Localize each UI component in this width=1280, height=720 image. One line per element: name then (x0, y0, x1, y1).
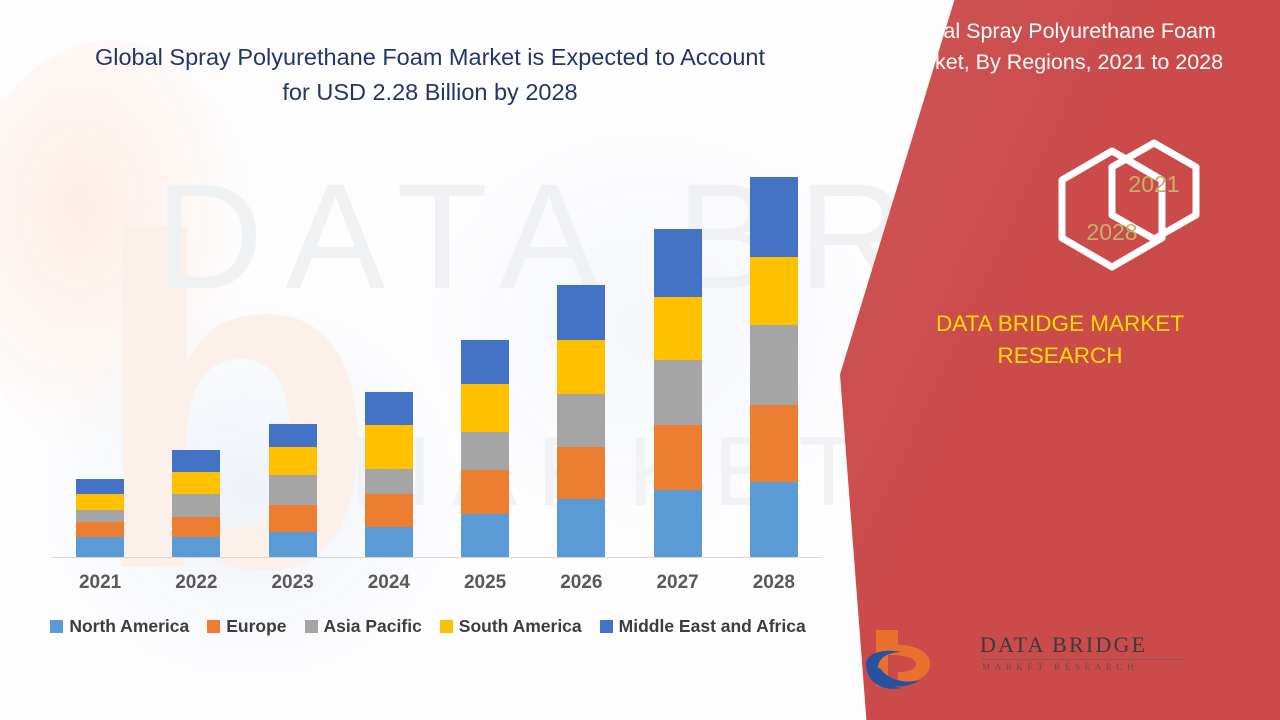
x-axis-labels: 20212022202320242025202620272028 (52, 572, 822, 594)
bar-segment[interactable] (750, 405, 798, 482)
bar-segment[interactable] (557, 285, 605, 340)
bar-segment[interactable] (269, 505, 317, 532)
bar-segment[interactable] (269, 475, 317, 505)
bar-segment[interactable] (654, 425, 702, 490)
chart-title: Global Spray Polyurethane Foam Market is… (60, 40, 800, 110)
logo-mark-icon (858, 624, 978, 696)
bar-segment[interactable] (654, 360, 702, 425)
bar-segment[interactable] (461, 432, 509, 470)
bar-segment[interactable] (172, 537, 220, 557)
bar-segment[interactable] (76, 522, 124, 537)
legend-item[interactable]: Asia Pacific (305, 616, 422, 637)
chart-title-line-2: for USD 2.28 Billion by 2028 (60, 75, 800, 110)
bar-segment[interactable] (76, 494, 124, 511)
bar-segment[interactable] (172, 472, 220, 494)
bar-segment[interactable] (750, 325, 798, 405)
bar-segment[interactable] (365, 469, 413, 494)
legend-label: Middle East and Africa (619, 616, 806, 637)
bar-segment[interactable] (461, 384, 509, 432)
bar-segment[interactable] (365, 494, 413, 527)
legend-item[interactable]: Middle East and Africa (600, 616, 806, 637)
logo-text-sub: MARKET RESEARCH (982, 662, 1138, 672)
bar-segment[interactable] (654, 229, 702, 297)
legend-swatch-icon (305, 620, 318, 633)
logo-text-main: DATA BRIDGE (980, 632, 1147, 658)
legend-swatch-icon (50, 620, 63, 633)
company-logo: DATA BRIDGE MARKET RESEARCH (858, 624, 1088, 696)
brand-name: DATA BRIDGE MARKET RESEARCH (860, 308, 1260, 372)
hexagon-group: 2028 2021 (840, 0, 1280, 300)
right-info-panel: Global Spray Polyurethane Foam Market, B… (840, 0, 1280, 720)
bar-segment[interactable] (76, 537, 124, 557)
bar-segment[interactable] (365, 425, 413, 468)
legend-item[interactable]: Europe (207, 616, 286, 637)
bar-column[interactable] (257, 157, 329, 557)
bar-column[interactable] (642, 157, 714, 557)
x-axis-line (52, 557, 822, 558)
legend-item[interactable]: North America (50, 616, 189, 637)
bar-segment[interactable] (557, 340, 605, 393)
bar-segment[interactable] (172, 517, 220, 537)
hexagon-2028-label: 2028 (1072, 219, 1152, 246)
brand-name-line-2: RESEARCH (860, 340, 1260, 372)
bar-group (52, 157, 822, 557)
legend-label: North America (69, 616, 189, 637)
bar-segment[interactable] (269, 447, 317, 475)
legend-item[interactable]: South America (440, 616, 582, 637)
bar-column[interactable] (545, 157, 617, 557)
x-axis-tick-label: 2023 (257, 572, 329, 594)
legend-swatch-icon (207, 620, 220, 633)
chart-plot-area (52, 150, 822, 558)
bar-segment[interactable] (557, 499, 605, 557)
x-axis-tick-label: 2028 (738, 572, 810, 594)
bar-column[interactable] (160, 157, 232, 557)
x-axis-tick-label: 2021 (64, 572, 136, 594)
bar-segment[interactable] (269, 532, 317, 557)
bar-column[interactable] (353, 157, 425, 557)
x-axis-tick-label: 2022 (160, 572, 232, 594)
legend-label: Europe (226, 616, 286, 637)
chart-title-line-1: Global Spray Polyurethane Foam Market is… (60, 40, 800, 75)
legend-swatch-icon (440, 620, 453, 633)
bar-segment[interactable] (557, 394, 605, 447)
x-axis-tick-label: 2024 (353, 572, 425, 594)
bar-segment[interactable] (365, 392, 413, 425)
bar-segment[interactable] (76, 479, 124, 494)
bar-segment[interactable] (461, 340, 509, 383)
hexagon-svg (840, 0, 1280, 300)
bar-segment[interactable] (76, 510, 124, 522)
bar-segment[interactable] (557, 447, 605, 499)
x-axis-tick-label: 2026 (545, 572, 617, 594)
bar-segment[interactable] (269, 424, 317, 447)
bar-segment[interactable] (750, 177, 798, 257)
x-axis-tick-label: 2027 (642, 572, 714, 594)
legend-swatch-icon (600, 620, 613, 633)
bar-column[interactable] (738, 157, 810, 557)
hexagon-2021-label: 2021 (1114, 171, 1194, 198)
bar-segment[interactable] (365, 527, 413, 557)
bar-segment[interactable] (750, 482, 798, 557)
bar-segment[interactable] (654, 490, 702, 557)
x-axis-tick-label: 2025 (449, 572, 521, 594)
bar-column[interactable] (449, 157, 521, 557)
bar-segment[interactable] (172, 450, 220, 472)
legend-label: Asia Pacific (324, 616, 422, 637)
slide-root: b DATA BRIDGE MARKET RESEARCH Global Spr… (0, 0, 1280, 720)
bar-segment[interactable] (461, 514, 509, 557)
chart-legend: North AmericaEuropeAsia PacificSouth Ame… (52, 616, 822, 637)
bar-segment[interactable] (750, 257, 798, 325)
bar-column[interactable] (64, 157, 136, 557)
bar-segment[interactable] (461, 470, 509, 513)
bar-segment[interactable] (654, 297, 702, 360)
logo-divider (982, 659, 1182, 660)
legend-label: South America (459, 616, 582, 637)
brand-name-line-1: DATA BRIDGE MARKET (860, 308, 1260, 340)
bar-segment[interactable] (172, 494, 220, 517)
